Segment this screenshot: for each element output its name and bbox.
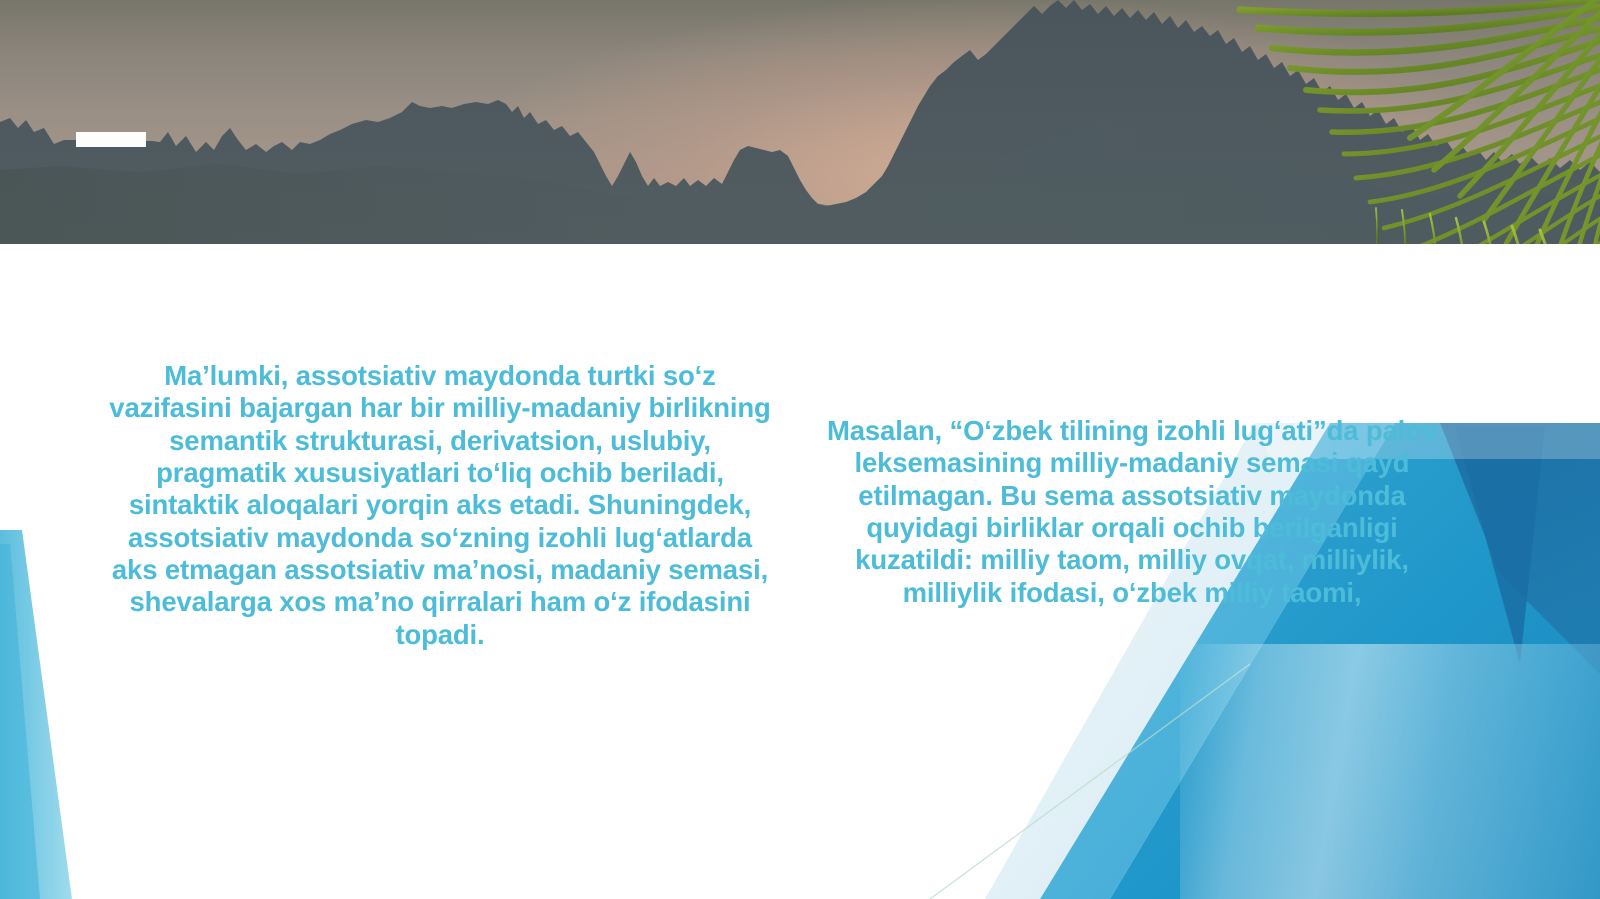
paragraph-left: Ma’lumki, assotsiativ maydonda turtki so… <box>104 360 776 651</box>
white-marker-bar <box>76 132 146 147</box>
paragraph-right: Masalan, “O‘zbek tilining izohli lug‘ati… <box>812 415 1452 609</box>
mountain-silhouette-icon <box>0 0 1600 244</box>
banner-image <box>0 0 1600 244</box>
presentation-slide: Ma’lumki, assotsiativ maydonda turtki so… <box>0 0 1600 899</box>
